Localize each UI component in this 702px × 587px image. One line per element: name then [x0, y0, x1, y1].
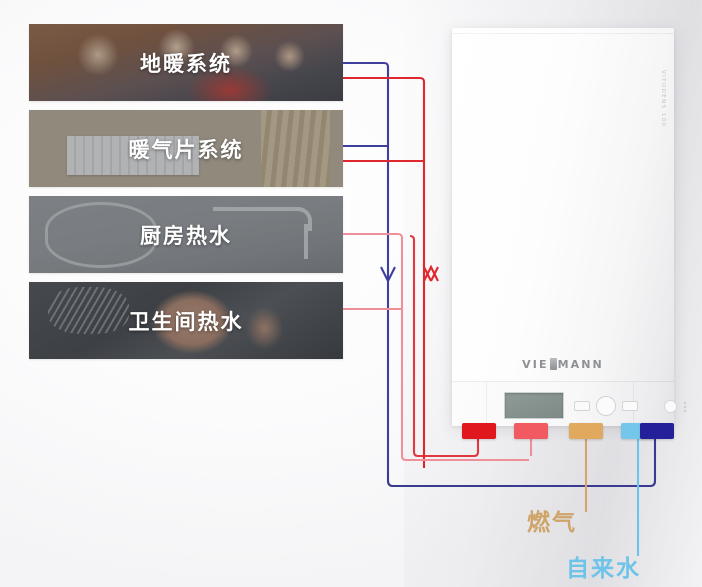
connector-gas-orange[interactable]	[569, 423, 603, 439]
boiler-control-panel[interactable]	[452, 381, 674, 426]
ok-dial-button[interactable]	[596, 396, 616, 416]
viessmann-mark-icon	[550, 358, 557, 370]
lcd-screen	[504, 392, 564, 419]
connector-heating-return-dark-red[interactable]	[462, 423, 496, 439]
viessmann-logo: VIEMANN	[452, 358, 674, 371]
menu-button[interactable]	[574, 401, 590, 411]
boiler-unit[interactable]: VITODENS 100 VIEMANN	[452, 28, 674, 426]
boiler-model-text: VITODENS 100	[660, 70, 666, 127]
pipe-navy-loop	[388, 438, 655, 486]
status-leds-icon	[683, 401, 692, 412]
back-button[interactable]	[622, 401, 638, 411]
boiler-top-seam	[452, 33, 674, 34]
panel-seam-left	[486, 382, 487, 426]
label-gas: 燃气	[527, 503, 577, 537]
flow-arrow-up-red	[424, 267, 438, 281]
brand-part-left: VIE	[522, 358, 548, 371]
power-button[interactable]	[664, 400, 677, 413]
connector-hot-water-navy[interactable]	[640, 423, 674, 439]
connector-heating-supply-red[interactable]	[514, 423, 548, 439]
control-button-row	[574, 396, 692, 416]
label-tap-water: 自来水	[566, 549, 641, 583]
brand-part-right: MANN	[558, 358, 604, 371]
diagram-canvas: 地暖系统 暖气片系统 厨房热水 卫生间热水	[0, 0, 702, 587]
